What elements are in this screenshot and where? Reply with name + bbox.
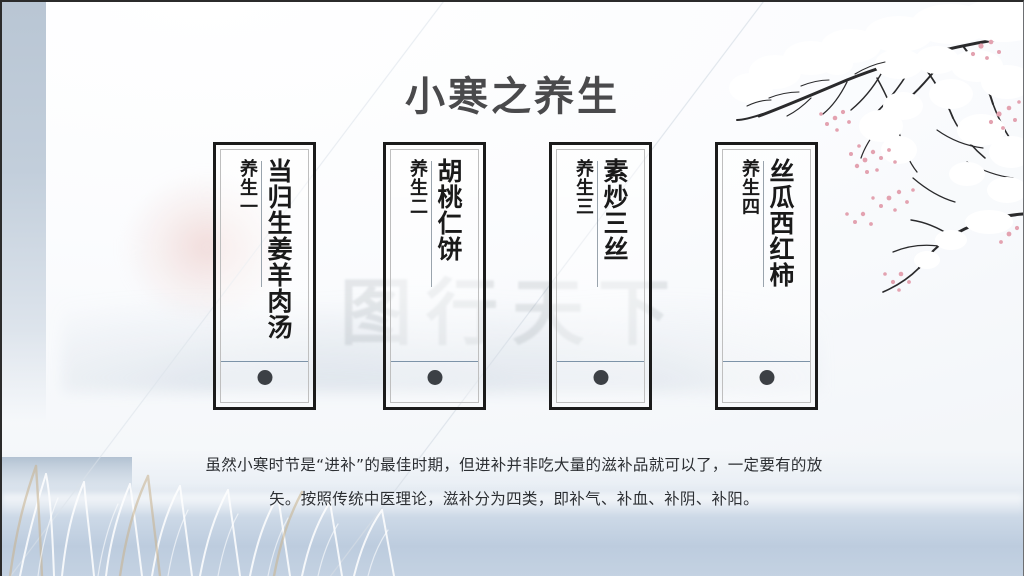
card-2-name: 胡桃仁饼	[432, 151, 461, 262]
card-4-rule	[723, 361, 810, 362]
card-1-name: 当归生姜羊肉汤	[262, 151, 291, 340]
card-3-name: 素炒三丝	[598, 151, 627, 262]
body-paragraph: 虽然小寒时节是“进补”的最佳时期，但进补并非吃大量的滋补品就可以了，一定要有的放…	[134, 448, 894, 516]
card-2-rule	[391, 361, 478, 362]
card-3-index-label: 养生三	[574, 151, 597, 216]
card-3-bullet-dot	[593, 370, 608, 385]
card-3[interactable]: 素炒三丝 养生三	[549, 142, 652, 410]
card-4[interactable]: 丝瓜西红柿 养生四	[715, 142, 818, 410]
slide-canvas: 图行天下	[0, 0, 1024, 576]
card-2-index-label: 养生二	[408, 151, 431, 216]
card-1[interactable]: 当归生姜羊肉汤 养生一	[213, 142, 316, 410]
card-3-rule	[557, 361, 644, 362]
page-title: 小寒之养生	[2, 64, 1023, 122]
card-4-name: 丝瓜西红柿	[764, 151, 793, 288]
card-2-bullet-dot	[427, 370, 442, 385]
card-4-bullet-dot	[759, 370, 774, 385]
card-1-rule	[221, 361, 308, 362]
card-1-bullet-dot	[257, 370, 272, 385]
card-1-body: 当归生姜羊肉汤 养生一	[221, 151, 308, 341]
card-4-index-label: 养生四	[740, 151, 763, 216]
card-1-index-label: 养生一	[238, 151, 261, 216]
card-2-body: 胡桃仁饼 养生二	[391, 151, 478, 341]
body-paragraph-line-1: 虽然小寒时节是“进补”的最佳时期，但进补并非吃大量的滋补品就可以了，一定要有的放	[134, 448, 894, 482]
card-3-body: 素炒三丝 养生三	[557, 151, 644, 341]
card-2[interactable]: 胡桃仁饼 养生二	[383, 142, 486, 410]
body-paragraph-line-2: 矢。按照传统中医理论，滋补分为四类，即补气、补血、补阴、补阳。	[134, 482, 894, 516]
card-4-body: 丝瓜西红柿 养生四	[723, 151, 810, 341]
card-list: 当归生姜羊肉汤 养生一 胡桃仁饼 养生二 素炒三丝 养生三	[213, 142, 818, 412]
